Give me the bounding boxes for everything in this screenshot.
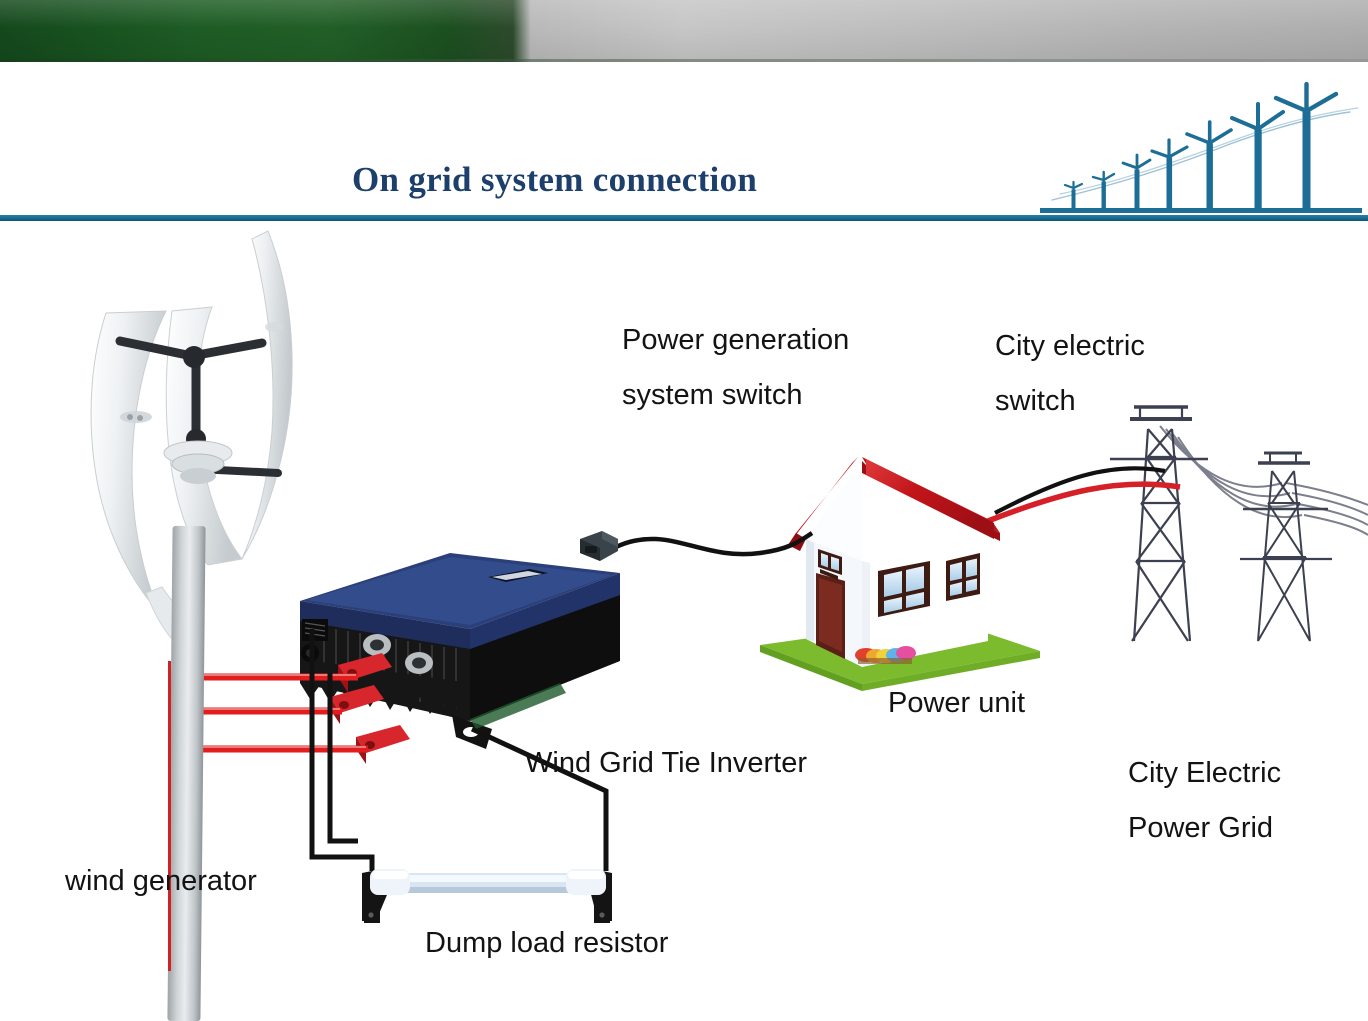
inverter-icon: [300, 553, 620, 764]
label-line-1: Power generation: [622, 313, 849, 368]
wind-turbine-row-icon: [1040, 82, 1368, 218]
label-power-unit: Power unit: [888, 688, 1025, 720]
turbine-mast-red-wire: [168, 661, 171, 971]
label-city-electric-switch: City electric switch: [995, 319, 1145, 429]
label-line-1: City Electric: [1128, 746, 1281, 801]
grid-cable-group: [988, 468, 1180, 521]
label-line-1: City electric: [995, 319, 1145, 374]
top-band-sheen: [0, 0, 1368, 62]
label-line-2: switch: [995, 374, 1145, 429]
diagram-canvas: Power generation system switch City elec…: [0, 221, 1368, 1000]
page-title: On grid system connection: [352, 160, 757, 200]
terminal-red: [356, 725, 410, 764]
label-city-electric-power-grid: City Electric Power Grid: [1128, 746, 1281, 856]
label-wind-generator: wind generator: [65, 866, 257, 898]
label-line-2: Power Grid: [1128, 801, 1281, 856]
house-icon: [760, 457, 1040, 691]
resistor-icon: [362, 869, 612, 923]
turbine-mast: [167, 526, 205, 1021]
plug-icon: [580, 531, 618, 561]
ac-cable-group: [616, 533, 812, 554]
label-power-generation-switch: Power generation system switch: [622, 313, 849, 423]
diagram-page: On grid system connection: [0, 0, 1368, 1000]
label-dump-load-resistor: Dump load resistor: [425, 928, 668, 960]
pylon-icon: [1110, 407, 1368, 641]
label-line-2: system switch: [622, 368, 849, 423]
label-wind-grid-tie-inverter: Wind Grid Tie Inverter: [525, 748, 807, 780]
top-photo-band: [0, 0, 1368, 62]
